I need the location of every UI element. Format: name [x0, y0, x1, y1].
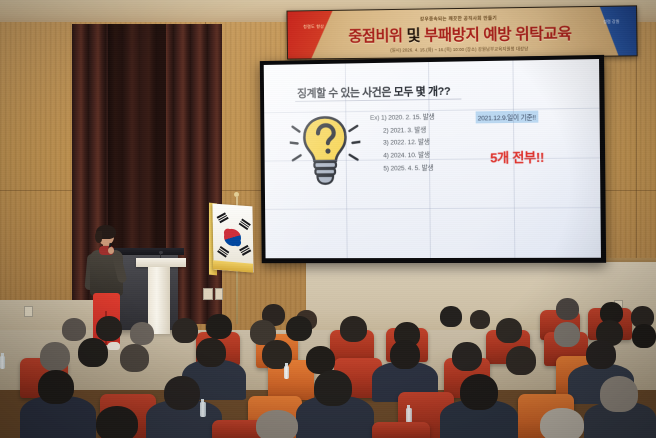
audience-head	[196, 338, 226, 367]
audience-head	[62, 318, 86, 341]
water-bottle	[406, 408, 412, 423]
list-item-text: 3) 2022. 12. 발생	[383, 139, 430, 147]
audience-seating-area	[0, 296, 656, 438]
audience-head	[40, 342, 70, 371]
audience-head	[556, 298, 579, 320]
list-item-text: 4) 2024. 10. 발생	[383, 152, 430, 159]
list-item: Ex) 1) 2020. 2. 15. 발생	[370, 112, 435, 125]
example-lead: Ex)	[370, 115, 379, 122]
audience-head	[314, 370, 352, 406]
presenter-hand	[108, 247, 114, 254]
example-items: Ex) 1) 2020. 2. 15. 발생 2) 2021. 3. 발생 3)…	[370, 112, 435, 176]
audience-head	[452, 342, 482, 371]
trigram-ri	[217, 246, 229, 258]
audience-head	[632, 324, 656, 348]
audience-head	[460, 374, 498, 410]
banner-title: 중점비위 및 부패방지 예방 위탁교육	[288, 21, 637, 47]
audience-head	[96, 316, 122, 341]
audience-head	[96, 406, 138, 438]
water-bottle	[0, 356, 5, 369]
slide-example-list: Ex) 1) 2020. 2. 15. 발생 2) 2021. 3. 발생 3)…	[370, 112, 435, 176]
audience-head	[38, 370, 74, 404]
audience-head	[470, 310, 490, 329]
list-item-text: 5) 2025. 4. 5. 발생	[383, 165, 433, 172]
trigram-gam	[239, 219, 251, 231]
audience-head	[256, 410, 298, 438]
audience-head	[340, 316, 367, 342]
audience-head	[206, 314, 232, 339]
led-video-wall: 징계할 수 있는 사건은 모두 몇 개??	[260, 55, 606, 263]
audience-head	[600, 376, 638, 412]
audience-head	[164, 376, 200, 410]
presenter-hair-side	[95, 231, 102, 243]
audience-head	[172, 318, 198, 343]
event-banner: 청렴도 향상 청렴 강원 강우종속되는 깨끗한 공직사회 만들기 중점비위 및 …	[286, 5, 637, 59]
audience-head	[540, 408, 584, 438]
audience-head	[506, 346, 536, 375]
list-item: 3) 2022. 12. 발생	[383, 137, 435, 150]
list-item: 4) 2024. 10. 발생	[383, 150, 435, 163]
theater-seat	[372, 422, 430, 438]
water-bottle	[200, 402, 206, 417]
list-item-text: 2) 2021. 3. 발생	[383, 127, 426, 135]
audience-head	[78, 338, 108, 367]
trigram-gon	[239, 245, 251, 256]
photo-scene: 청렴도 향상 청렴 강원 강우종속되는 깨끗한 공직사회 만들기 중점비위 및 …	[0, 0, 656, 438]
list-item: 2) 2021. 3. 발생	[383, 125, 435, 138]
trigram-geon	[217, 212, 229, 223]
audience-head	[496, 318, 522, 343]
audience-head	[390, 340, 420, 369]
banner-title-part-2: 부패방지 예방 위탁교육	[424, 26, 572, 45]
taeguk-symbol	[224, 228, 241, 246]
lightbulb-question-icon	[289, 111, 360, 191]
audience-head	[440, 306, 462, 327]
slide-highlight-note: 2021.12.9.일이 기준!!	[476, 111, 538, 124]
banner-title-conjunction: 및	[403, 27, 425, 44]
audience-head	[120, 344, 149, 372]
audience-head	[286, 316, 312, 341]
presentation-slide: 징계할 수 있는 사건은 모두 몇 개??	[264, 59, 601, 258]
audience-head	[554, 322, 580, 347]
audience-head	[130, 322, 154, 345]
banner-title-part-1: 중점비위	[348, 28, 403, 45]
list-item: 5) 2025. 4. 5. 발생	[383, 163, 435, 176]
slide-answer-text: 5개 전부!!	[490, 147, 544, 167]
audience-head	[586, 340, 616, 369]
water-bottle	[284, 366, 289, 379]
podium-top-surface	[136, 258, 186, 267]
list-item-text: 1) 2020. 2. 15. 발생	[381, 114, 435, 122]
